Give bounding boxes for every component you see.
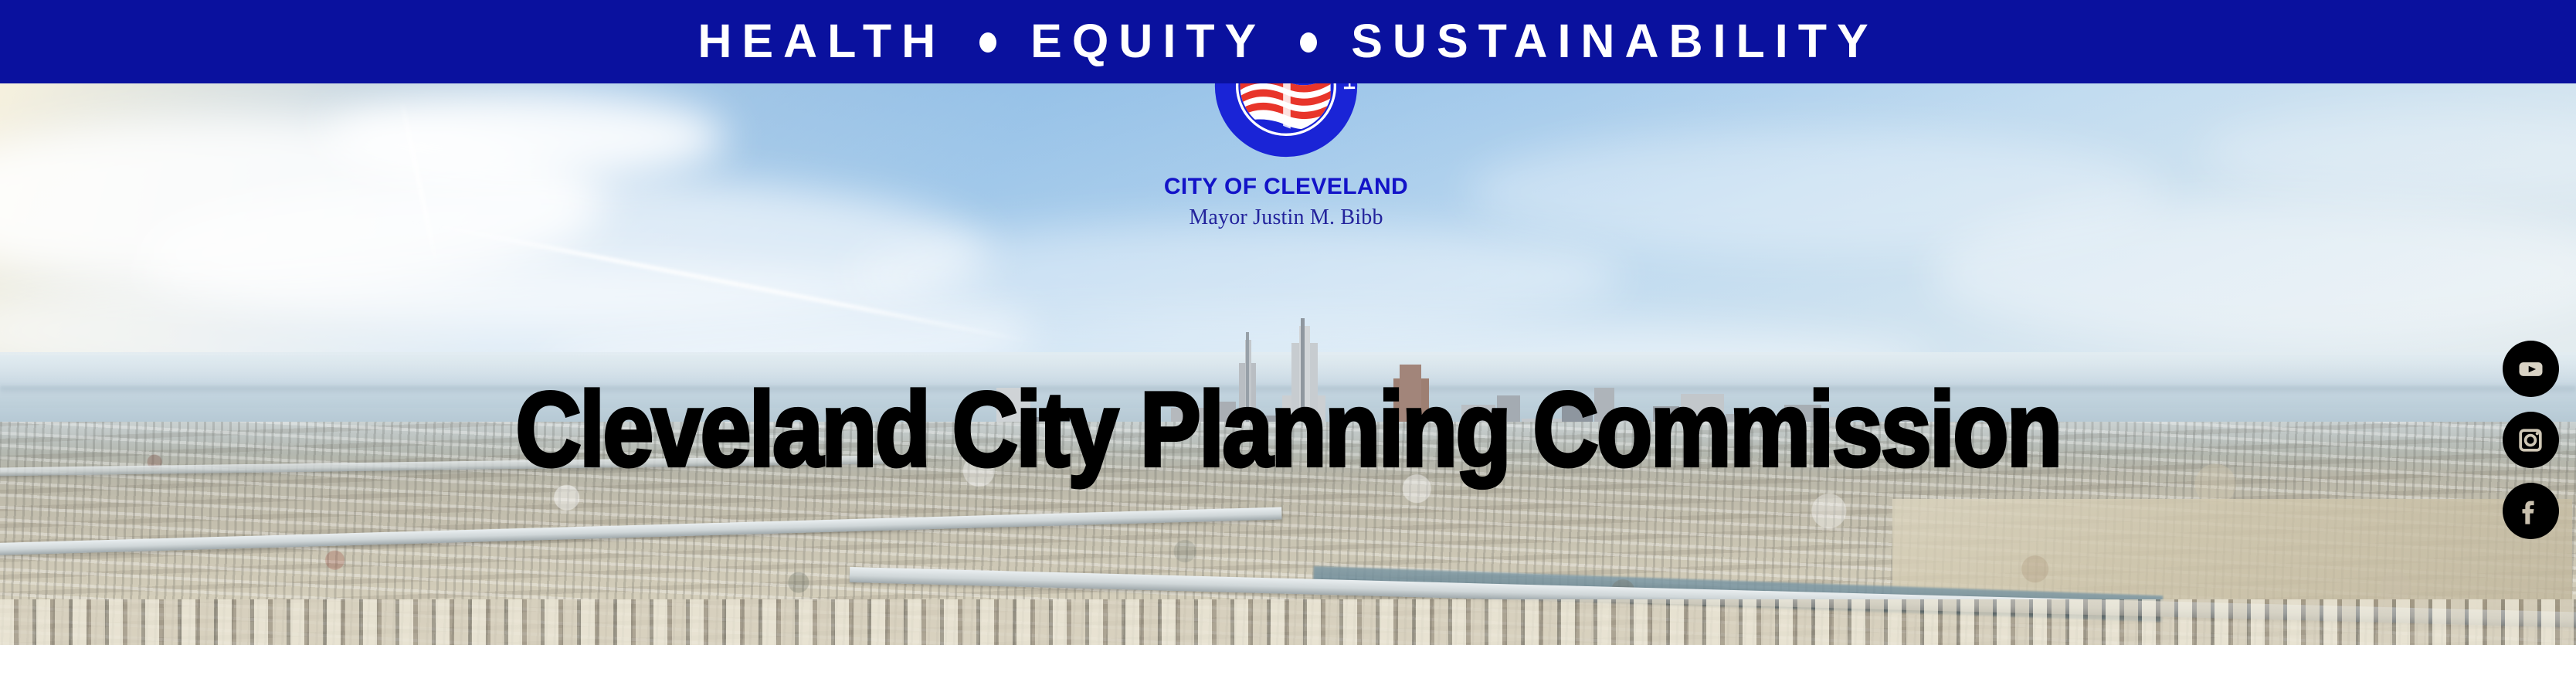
- social-links: [2502, 341, 2559, 539]
- tagline-word-sustainability: SUSTAINABILITY: [1351, 18, 1878, 65]
- bullet-dot-icon: [979, 32, 996, 53]
- tagline-word-health: HEALTH: [697, 18, 945, 65]
- housing-row: [0, 599, 2576, 645]
- youtube-link[interactable]: [2503, 341, 2559, 397]
- facebook-link[interactable]: [2503, 483, 2559, 539]
- org-name: CITY OF CLEVELAND: [1093, 175, 1479, 198]
- tagline-inner: HEALTH EQUITY SUSTAINABILITY: [697, 18, 1878, 65]
- cloud: [850, 222, 1622, 331]
- facebook-icon: [2515, 496, 2546, 527]
- bottom-white-strip: [0, 645, 2576, 682]
- page-title: Cleveland City Planning Commission: [0, 377, 2576, 483]
- instagram-link[interactable]: [2503, 412, 2559, 468]
- instagram-icon: [2513, 423, 2547, 457]
- slide-canvas: HEALTH EQUITY SUSTAINABILITY: [0, 0, 2576, 682]
- tagline-banner: HEALTH EQUITY SUSTAINABILITY: [0, 0, 2576, 83]
- cloud: [324, 91, 726, 184]
- bullet-dot-icon: [1300, 32, 1317, 53]
- youtube-icon: [2513, 351, 2548, 386]
- cloud: [2201, 107, 2576, 199]
- mayor-name: Mayor Justin M. Bibb: [1093, 207, 1479, 229]
- tagline-word-equity: EQUITY: [1030, 18, 1266, 65]
